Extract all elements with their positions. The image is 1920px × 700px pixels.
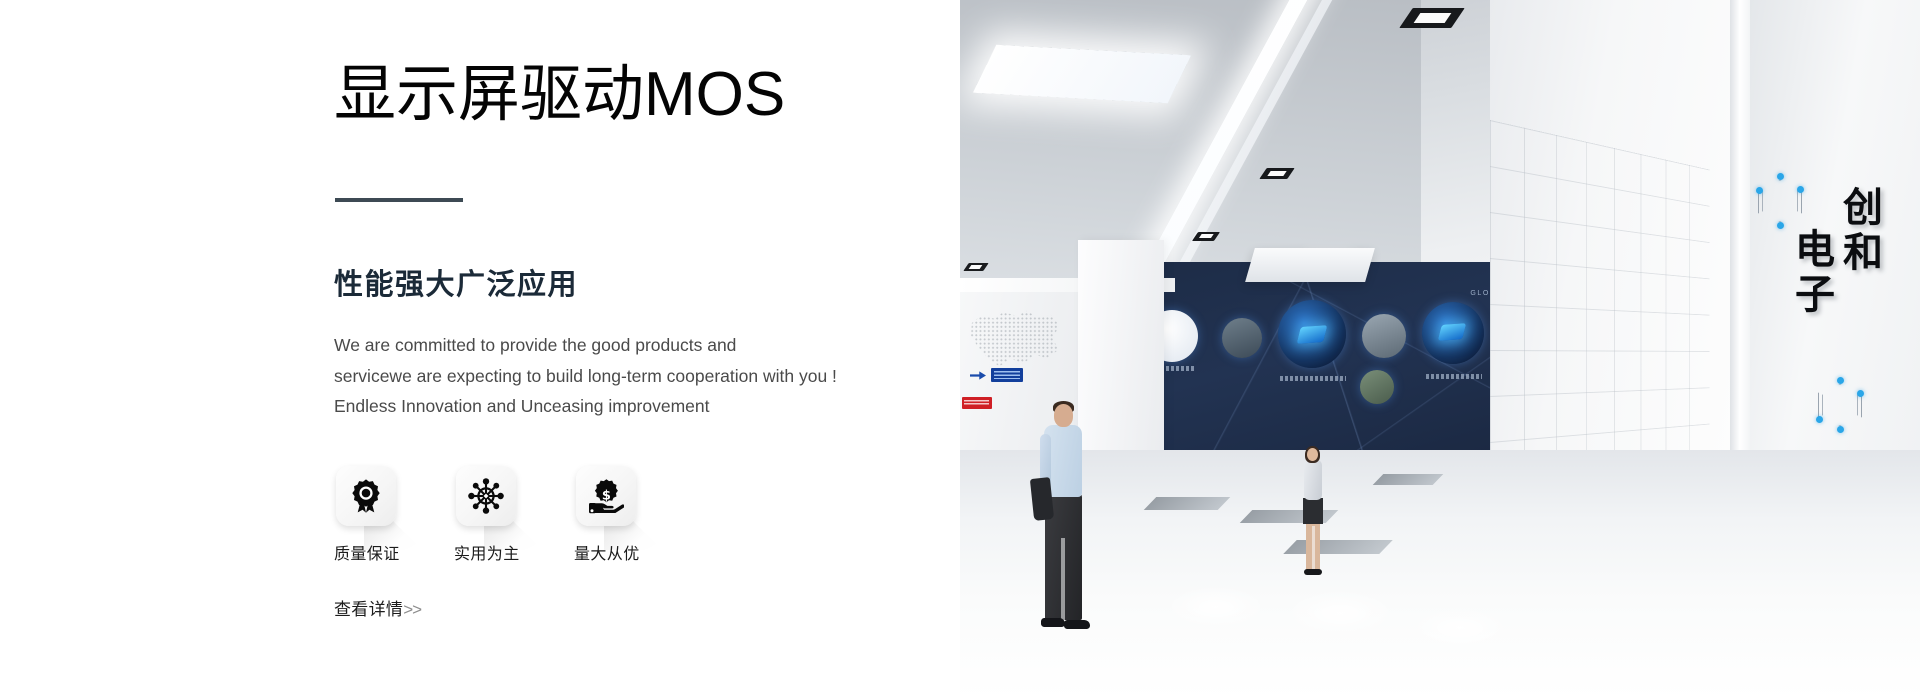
feature-item-bulk-discount[interactable]: $ 量大从优	[574, 466, 694, 564]
exhibit-caption	[1280, 376, 1346, 381]
wall-sign-red	[962, 397, 992, 409]
showroom-floor	[960, 450, 1920, 700]
svg-text:$: $	[602, 489, 611, 504]
banner-subtitle: 性能强大广泛应用	[334, 268, 578, 302]
feature-label: 质量保证	[334, 546, 400, 564]
floor-reflection	[1286, 590, 1394, 636]
chip-graphic	[1438, 323, 1467, 341]
hexagon-molecule-icon	[1818, 380, 1862, 430]
description-line-3: Endless Innovation and Unceasing improve…	[334, 391, 874, 422]
title-divider	[335, 198, 463, 202]
hand-money-icon: $	[588, 478, 624, 514]
hero-banner: 显示屏驱动MOS 性能强大广泛应用 We are committed to pr…	[0, 0, 1920, 700]
feature-tile: $	[576, 466, 636, 526]
person-walking-woman	[1296, 448, 1330, 580]
view-details-link[interactable]: 查看详情>>	[334, 599, 421, 621]
double-chevron-icon: >>	[403, 600, 421, 619]
exhibit-circle	[1222, 318, 1262, 358]
floor-reflection	[1166, 586, 1266, 628]
page-title: 显示屏驱动MOS	[334, 58, 785, 132]
chip-graphic	[1297, 325, 1328, 344]
exhibit-circle	[1360, 370, 1394, 404]
exhibit-circle	[1422, 302, 1484, 364]
hexagon-molecule-icon	[1758, 176, 1802, 226]
description-line-2: servicewe are expecting to build long-te…	[334, 361, 874, 392]
banner-text-panel: 显示屏驱动MOS 性能强大广泛应用 We are committed to pr…	[0, 0, 960, 700]
feature-label: 实用为主	[454, 546, 520, 564]
feature-item-practical[interactable]: 实用为主	[454, 466, 574, 564]
feature-tile	[456, 466, 516, 526]
person-standing-man	[1032, 404, 1096, 642]
brand-text-column-2: 电子	[1788, 228, 1834, 318]
skylight-panel-light	[973, 45, 1191, 103]
floor-reflection	[1412, 608, 1508, 648]
exhibit-circle	[1362, 314, 1406, 358]
banner-description: We are committed to provide the good pro…	[334, 330, 874, 422]
wall-sign-blue	[991, 368, 1023, 382]
floor-inlay-strip	[1144, 497, 1231, 510]
showroom-photo: GLOBAL	[960, 0, 1920, 700]
exhibit-circle	[1278, 300, 1346, 368]
exhibit-caption	[1426, 374, 1482, 379]
network-node-icon	[468, 478, 504, 514]
description-line-1: We are committed to provide the good pro…	[334, 330, 874, 361]
exhibit-caption	[1166, 366, 1196, 371]
award-ribbon-icon	[348, 478, 384, 514]
banner-content: 显示屏驱动MOS 性能强大广泛应用 We are committed to pr…	[334, 0, 934, 700]
floor-inlay-strip	[1373, 474, 1444, 485]
navy-exhibit-wall: GLOBAL	[1160, 262, 1520, 472]
feature-tile	[336, 466, 396, 526]
feature-list: 质量保证	[334, 466, 694, 564]
brand-text-column-1: 创和	[1836, 186, 1882, 276]
feature-label: 量大从优	[574, 546, 640, 564]
hanging-ceiling-panel	[1245, 248, 1375, 282]
view-details-text: 查看详情	[334, 600, 403, 619]
feature-item-quality[interactable]: 质量保证	[334, 466, 454, 564]
